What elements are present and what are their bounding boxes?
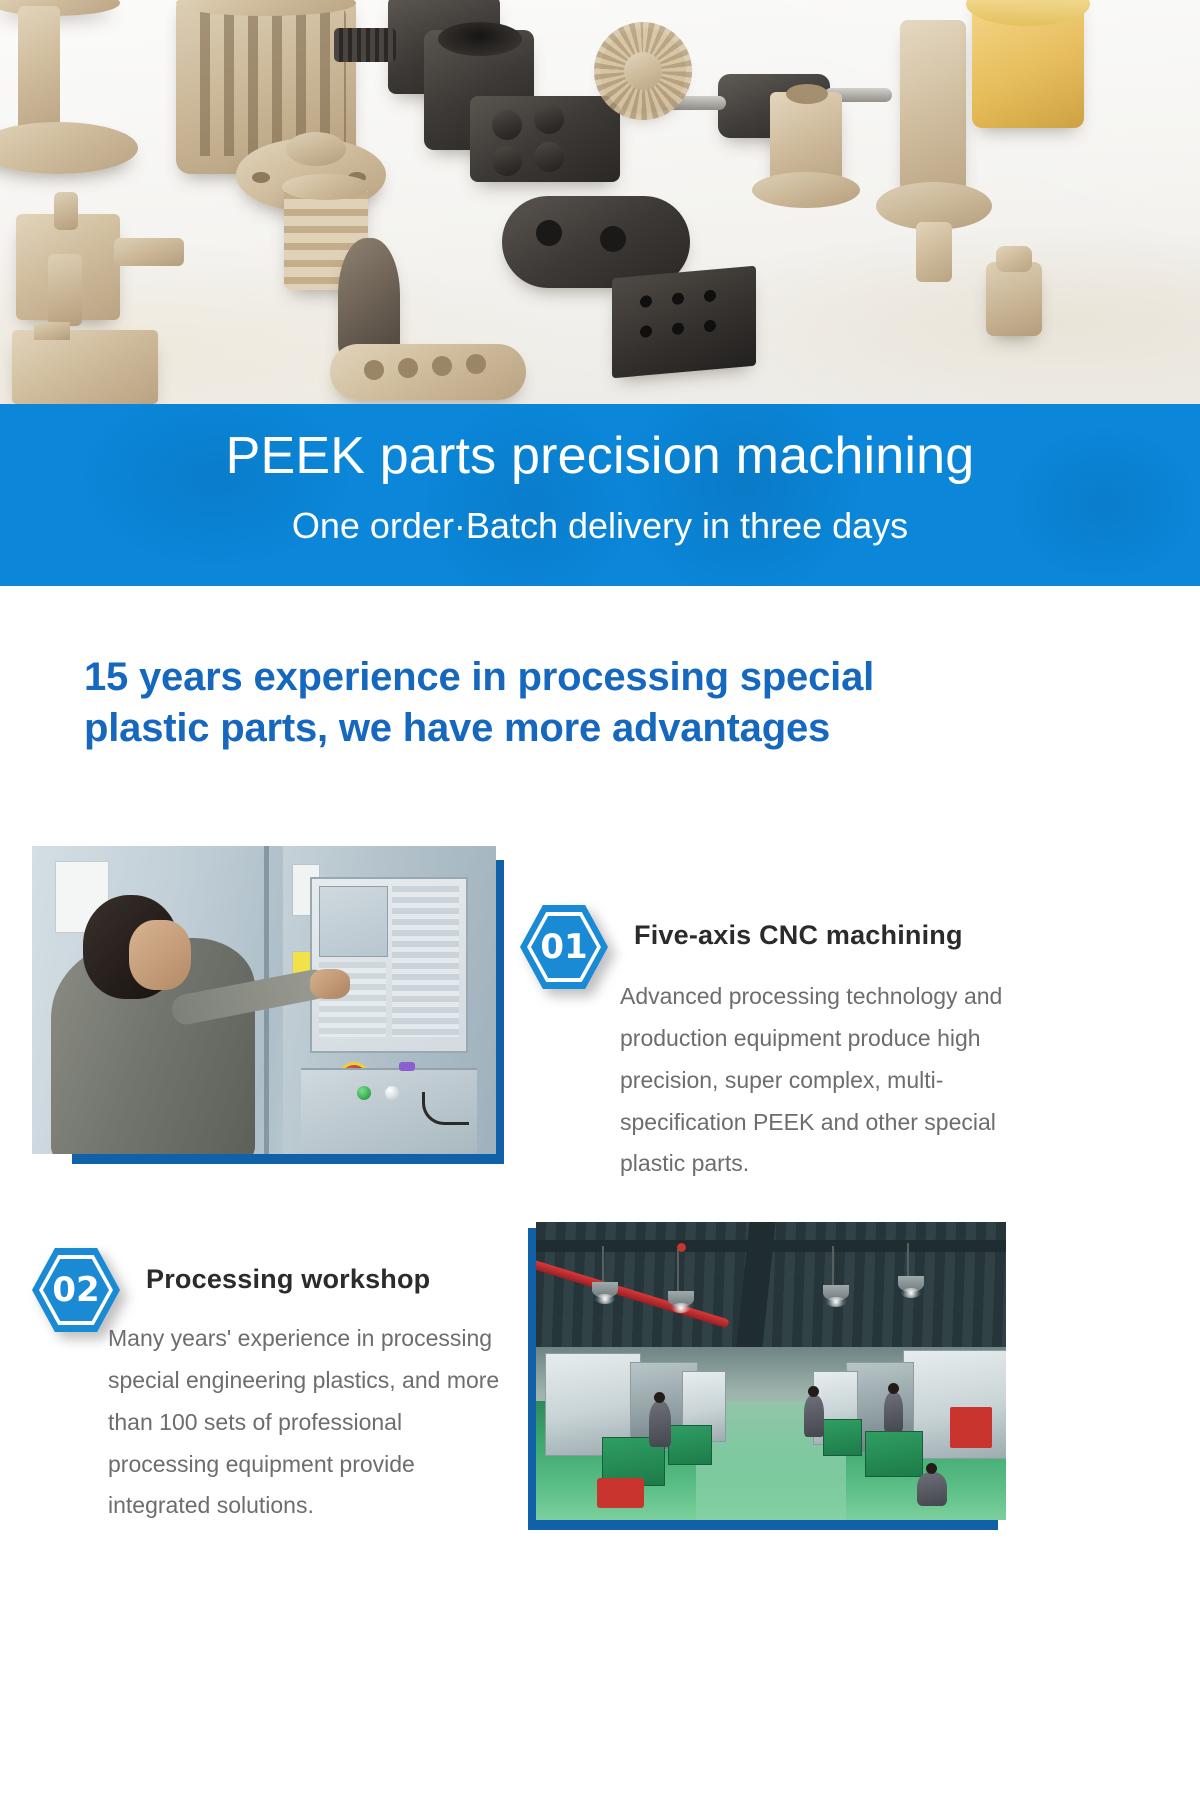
hero-table-sheen <box>0 0 1200 404</box>
feature-01-body: Advanced processing technology and produ… <box>620 976 1050 1185</box>
workshop-red-crate <box>597 1478 644 1508</box>
workshop-worker-3 <box>884 1392 903 1432</box>
workshop-lamp-3 <box>823 1285 849 1301</box>
workshop-cart-right-1 <box>865 1431 923 1478</box>
hero-banner: PEEK parts precision machining One order… <box>0 404 1200 586</box>
cnc-screen <box>319 886 388 957</box>
feature-02-body: Many years' experience in processing spe… <box>108 1318 508 1527</box>
cnc-machining-photo <box>32 846 496 1154</box>
banner-text-group: PEEK parts precision machining One order… <box>0 404 1200 544</box>
section-heading-line-1: 15 years experience in processing specia… <box>84 652 1084 703</box>
feature-01-accent-right <box>496 860 504 1164</box>
feature-02-photo-wrap <box>528 1222 1006 1530</box>
cnc-control-panel <box>310 877 467 1053</box>
cnc-keypad-right <box>392 886 459 1038</box>
cnc-indicator-purple <box>399 1062 415 1071</box>
feature-01-number: 01 <box>520 905 608 989</box>
banner-subtitle: One order·Batch delivery in three days <box>0 482 1200 544</box>
feature-02-number: 02 <box>32 1248 120 1332</box>
feature-01-badge: 01 <box>520 905 608 989</box>
cnc-indicator-green <box>357 1086 371 1100</box>
workshop-lamp-rod-2 <box>677 1249 679 1291</box>
cnc-indicator-white <box>385 1086 399 1100</box>
feature-02-badge: 02 <box>32 1248 120 1332</box>
hero-product-image <box>0 0 1200 404</box>
workshop-lamp-rod-4 <box>907 1243 909 1276</box>
workshop-lamp-rod-1 <box>602 1246 604 1282</box>
workshop-cart-left-2 <box>668 1425 712 1466</box>
feature-01-photo-wrap <box>32 846 504 1164</box>
workshop-lamp-4 <box>898 1276 924 1292</box>
section-heading-line-2: plastic parts, we have more advantages <box>84 703 1084 754</box>
workshop-red-cabinet <box>950 1407 992 1449</box>
section-heading: 15 years experience in processing specia… <box>84 652 1084 754</box>
feature-02-accent-left <box>528 1228 536 1530</box>
workshop-lamp-rod-3 <box>832 1246 834 1285</box>
workshop-worker-2 <box>804 1395 824 1437</box>
feature-02-title: Processing workshop <box>146 1264 430 1295</box>
workshop-worker-1 <box>649 1401 671 1447</box>
workshop-lamp-1 <box>592 1282 618 1298</box>
workshop-lamp-2 <box>668 1291 694 1307</box>
cnc-operator-face <box>129 920 191 990</box>
workshop-worker-4 <box>917 1472 947 1506</box>
workshop-cart-right-2 <box>823 1419 863 1457</box>
workshop-photo <box>536 1222 1006 1520</box>
feature-01-title: Five-axis CNC machining <box>634 920 963 951</box>
feature-02-accent-bottom <box>536 1520 998 1530</box>
cnc-operator-hand <box>310 969 350 999</box>
banner-title: PEEK parts precision machining <box>0 404 1200 482</box>
feature-01-accent-bottom <box>72 1154 504 1164</box>
